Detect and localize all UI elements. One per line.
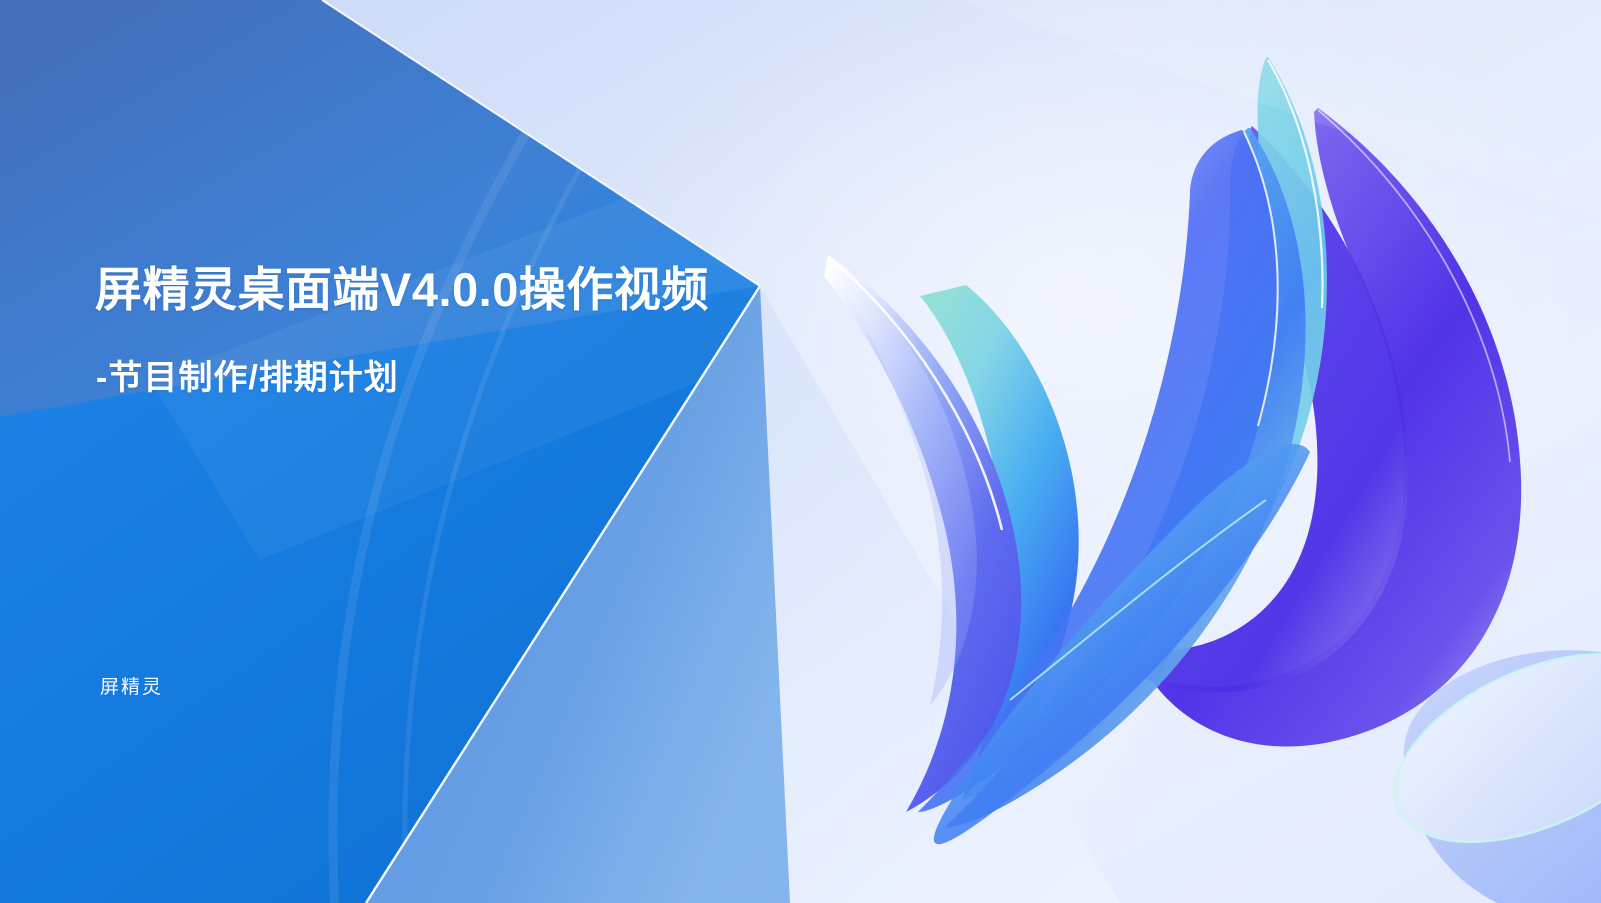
background-artwork — [0, 0, 1601, 903]
title-slide: 屏精灵桌面端V4.0.0操作视频 -节目制作/排期计划 屏精灵 — [0, 0, 1601, 903]
